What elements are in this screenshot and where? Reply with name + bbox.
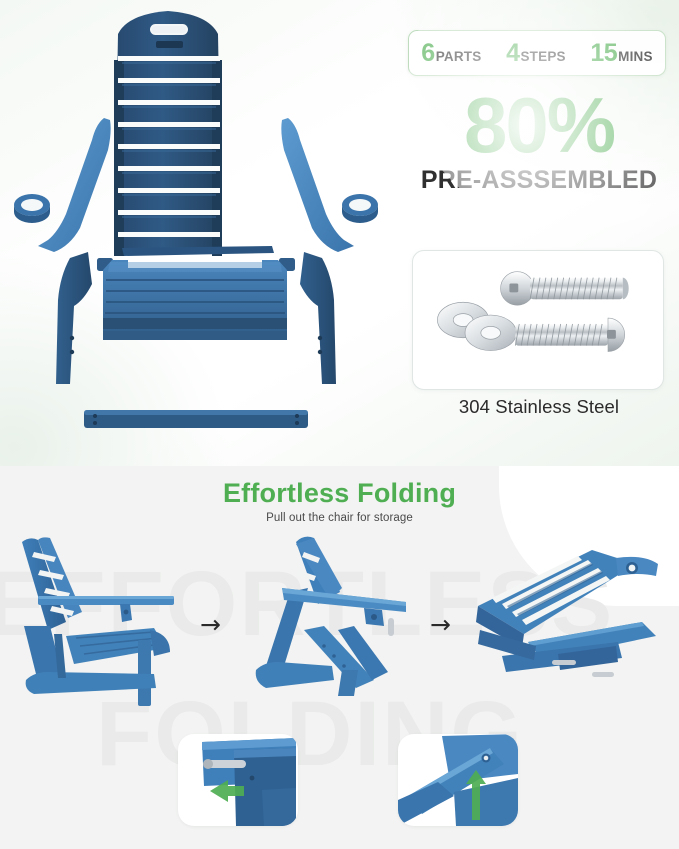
screw-icon xyxy=(501,272,629,306)
stat-label: STEPS xyxy=(520,49,565,64)
pre-assembled-block: 80% PRE-ASSSEMBLED xyxy=(408,88,670,195)
effortless-folding-section: EFFORTLESS FOLDING Effortless Folding Pu… xyxy=(0,466,679,849)
folding-sequence: → xyxy=(0,530,679,710)
chair-unfolded-image xyxy=(4,530,200,710)
chair-half-folded-image xyxy=(238,530,438,710)
sequence-arrow-icon: → xyxy=(430,612,451,637)
stats-badge: 6 PARTS 4 STEPS 15 MINS xyxy=(408,30,666,76)
hardware-caption: 304 Stainless Steel xyxy=(408,396,670,418)
right-leg-part xyxy=(300,252,336,384)
pre-assembled-percent: 80% xyxy=(408,88,670,163)
backrest-part xyxy=(114,11,222,256)
chair-folded-flat-image xyxy=(466,530,674,710)
pre-assembled-label: PRE-ASSSEMBLED xyxy=(408,166,670,195)
stat-label: MINS xyxy=(618,49,653,64)
seat-part xyxy=(103,260,287,340)
left-armrest-part xyxy=(14,118,111,252)
right-armrest-part xyxy=(281,118,378,252)
stat-number: 4 xyxy=(506,41,519,66)
stat-number: 6 xyxy=(421,41,434,66)
stat-number: 15 xyxy=(590,41,617,66)
exploded-chair-parts-diagram xyxy=(0,0,392,456)
latch-release-detail xyxy=(178,734,298,826)
hardware-card xyxy=(412,250,664,390)
folding-subtitle: Pull out the chair for storage xyxy=(0,512,679,524)
left-leg-part xyxy=(56,252,92,384)
stat-item-parts: 6 PARTS xyxy=(421,41,481,66)
leg-lift-detail xyxy=(398,734,518,826)
stat-item-mins: 15 MINS xyxy=(590,41,652,66)
sequence-arrow-icon: → xyxy=(200,612,221,637)
screw-icon xyxy=(515,318,624,352)
washer-icon xyxy=(465,315,516,350)
product-highlights-section: 6 PARTS 4 STEPS 15 MINS 80% PRE-ASSSEMBL… xyxy=(0,0,679,466)
stat-label: PARTS xyxy=(436,49,482,64)
folding-title: Effortless Folding xyxy=(0,478,679,509)
cross-brace-part xyxy=(84,410,308,428)
stat-item-steps: 4 STEPS xyxy=(506,41,566,66)
